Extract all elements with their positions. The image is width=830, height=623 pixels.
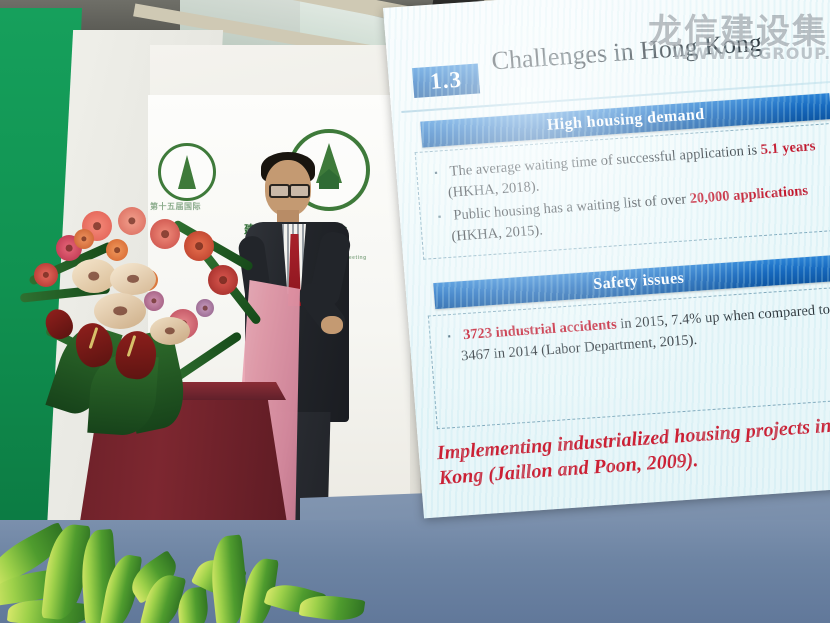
gerbera-flower [184, 231, 214, 261]
slide-number-badge: 1.3 [412, 64, 480, 99]
bullet-text-part: (HKHA, 2018). [447, 178, 539, 200]
accent-flower [196, 299, 214, 317]
rose-flower [74, 229, 94, 249]
bullet-text-part: (HKHA, 2015). [451, 222, 543, 244]
gerbera-flower [208, 265, 238, 295]
eyeglasses-icon [289, 184, 310, 198]
conference-photo-scene: 第十五届国际 建筑与建筑节能大会 博览会 Building & Energy E… [0, 0, 830, 623]
gerbera-flower [150, 219, 180, 249]
gerbera-flower [118, 207, 146, 235]
conference-logo-left [158, 143, 216, 201]
watermark-url: WWW.LXGROUP.CN [672, 44, 830, 63]
speaker-hand [321, 316, 343, 334]
foreground-plants [0, 500, 400, 623]
projection-screen: 1.3 Challenges in Hong Kong High housing… [383, 0, 830, 518]
bullet-highlight: 20,000 applications [689, 183, 808, 207]
eyeglasses-icon [269, 184, 290, 198]
gerbera-flower [34, 263, 58, 287]
bullet-highlight: 5.1 years [760, 138, 816, 158]
flower-arrangement [18, 205, 278, 435]
accent-flower [144, 291, 164, 311]
presentation-slide: 1.3 Challenges in Hong Kong High housing… [383, 0, 830, 518]
rose-flower [106, 239, 128, 261]
lily-flower [94, 293, 146, 329]
lily-flower [110, 263, 156, 295]
lily-flower [150, 317, 190, 345]
tree-icon [178, 155, 196, 189]
